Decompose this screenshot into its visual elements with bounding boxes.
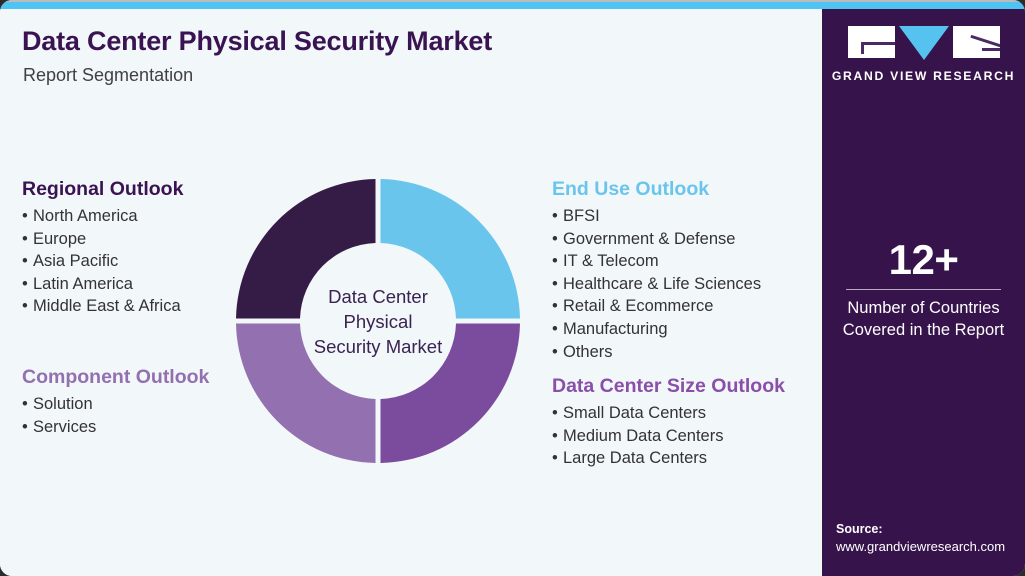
regional-outlook-section: Regional Outlook •North America •Europe … [22,178,183,318]
bullet-icon: • [552,250,563,273]
donut-segment-component [236,324,376,464]
sidebar: GRAND VIEW RESEARCH 12+ Number of Countr… [822,0,1025,576]
list-item-label: Others [563,343,613,361]
list-item-label: North America [33,207,138,225]
donut-segment-end-use [381,179,521,319]
bullet-icon: • [552,295,563,318]
list-item-label: Retail & Ecommerce [563,297,713,315]
stat-divider [846,289,1001,290]
logo-v-triangle-icon [899,26,949,60]
donut-segment-data-center-size [381,324,521,464]
list-item-label: Healthcare & Life Sciences [563,275,761,293]
list-item-label: Small Data Centers [563,404,706,422]
donut-segment-regional [236,179,376,319]
logo-marks [822,26,1025,60]
enduse-outlook-title: End Use Outlook [552,178,761,201]
enduse-outlook-section: End Use Outlook •BFSI •Government & Defe… [552,178,761,363]
bullet-icon: • [552,273,563,296]
list-item: •Healthcare & Life Sciences [552,273,761,296]
component-outlook-title: Component Outlook [22,366,209,389]
logo-g-icon [848,26,895,58]
list-item-label: Medium Data Centers [563,427,723,445]
regional-outlook-list: •North America •Europe •Asia Pacific •La… [22,205,183,318]
component-outlook-section: Component Outlook •Solution •Services [22,366,209,438]
list-item: •Asia Pacific [22,250,183,273]
main-panel: Data Center Physical Security Market Rep… [0,9,822,576]
bullet-icon: • [22,273,33,296]
brand-logo: GRAND VIEW RESEARCH [822,26,1025,83]
data-center-size-outlook-title: Data Center Size Outlook [552,375,785,398]
infographic-card: Data Center Physical Security Market Rep… [0,0,1025,576]
stat-caption-line-2: Covered in the Report [822,319,1025,341]
logo-wordmark: GRAND VIEW RESEARCH [822,69,1025,83]
data-center-size-outlook-section: Data Center Size Outlook •Small Data Cen… [552,375,785,470]
bullet-icon: • [552,425,563,448]
bullet-icon: • [552,205,563,228]
list-item: •Middle East & Africa [22,295,183,318]
list-item-label: Asia Pacific [33,252,118,270]
list-item: •Manufacturing [552,318,761,341]
stat-value: 12+ [822,237,1025,283]
list-item: •Others [552,341,761,364]
source-label: Source: [836,521,1025,538]
donut-chart: Data Center Physical Security Market [236,179,520,463]
list-item-label: Middle East & Africa [33,297,181,315]
list-item: •IT & Telecom [552,250,761,273]
list-item-label: Europe [33,230,86,248]
regional-outlook-title: Regional Outlook [22,178,183,201]
list-item-label: Government & Defense [563,230,735,248]
list-item: •Europe [22,228,183,251]
list-item: •Retail & Ecommerce [552,295,761,318]
list-item: •Solution [22,393,209,416]
bullet-icon: • [22,205,33,228]
data-center-size-outlook-list: •Small Data Centers •Medium Data Centers… [552,402,785,470]
list-item-label: BFSI [563,207,600,225]
bullet-icon: • [22,228,33,251]
source-url[interactable]: www.grandviewresearch.com [836,538,1025,556]
bullet-icon: • [552,402,563,425]
logo-r-icon [953,26,1000,58]
list-item: •Large Data Centers [552,447,785,470]
enduse-outlook-list: •BFSI •Government & Defense •IT & Teleco… [552,205,761,363]
list-item: •Latin America [22,273,183,296]
bullet-icon: • [552,341,563,364]
list-item: •North America [22,205,183,228]
bullet-icon: • [552,228,563,251]
list-item: •Services [22,416,209,439]
list-item-label: Manufacturing [563,320,668,338]
bullet-icon: • [22,393,33,416]
list-item: •Medium Data Centers [552,425,785,448]
bullet-icon: • [552,447,563,470]
bullet-icon: • [22,250,33,273]
list-item-label: Solution [33,395,93,413]
component-outlook-list: •Solution •Services [22,393,209,438]
page-subtitle: Report Segmentation [23,65,193,86]
donut-chart-svg [236,179,520,463]
bullet-icon: • [552,318,563,341]
top-hairline [0,0,1025,2]
page-title: Data Center Physical Security Market [22,26,492,57]
list-item-label: Latin America [33,275,133,293]
list-item-label: IT & Telecom [563,252,659,270]
bullet-icon: • [22,416,33,439]
list-item-label: Large Data Centers [563,449,707,467]
country-count-stat: 12+ Number of Countries Covered in the R… [822,237,1025,341]
bullet-icon: • [22,295,33,318]
list-item: •BFSI [552,205,761,228]
list-item-label: Services [33,418,96,436]
list-item: •Government & Defense [552,228,761,251]
stat-caption: Number of Countries Covered in the Repor… [822,297,1025,341]
list-item: •Small Data Centers [552,402,785,425]
source-block: Source: www.grandviewresearch.com [836,521,1025,556]
stat-caption-line-1: Number of Countries [822,297,1025,319]
